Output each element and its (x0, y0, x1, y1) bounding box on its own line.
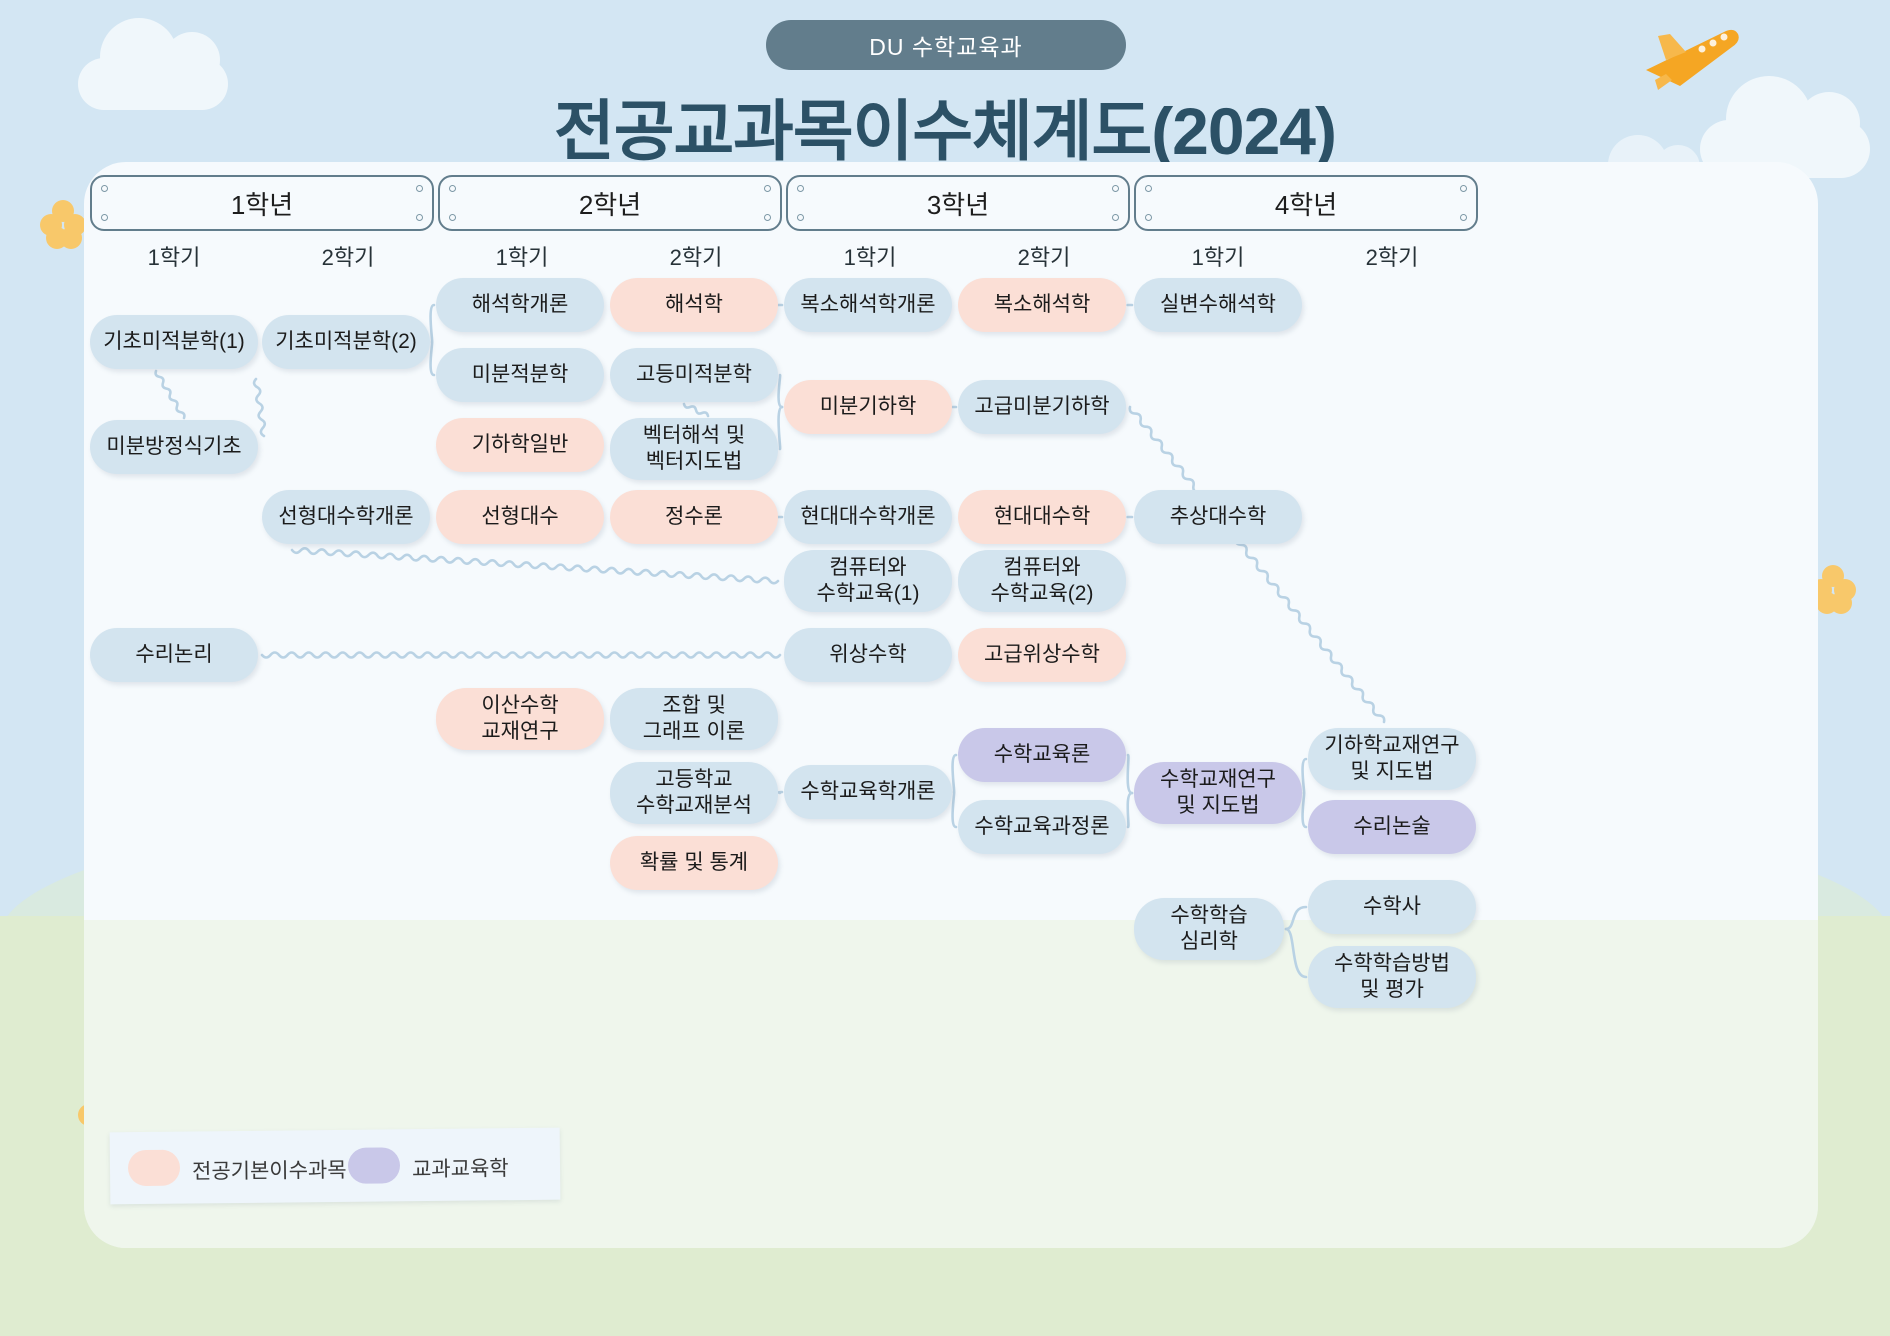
course-node[interactable]: 수학교육론 (958, 728, 1126, 782)
course-node[interactable]: 추상대수학 (1134, 490, 1302, 544)
course-node[interactable]: 고등학교 수학교재분석 (610, 762, 778, 824)
course-node-label: 복소해석학 (994, 292, 1091, 318)
course-node-label: 확률 및 통계 (640, 850, 748, 876)
course-node-label: 현대대수학개론 (800, 504, 935, 530)
semester-label-3: 1학기 (462, 240, 582, 272)
course-node[interactable]: 수학교육과정론 (958, 800, 1126, 854)
course-node[interactable]: 정수론 (610, 490, 778, 544)
course-node[interactable]: 현대대수학개론 (784, 490, 952, 544)
course-node[interactable]: 미분적분학 (436, 348, 604, 402)
course-node-label: 복소해석학개론 (800, 292, 935, 318)
course-node[interactable]: 해석학 (610, 278, 778, 332)
course-node-label: 기하학일반 (472, 432, 569, 458)
course-node-label: 해석학 (665, 292, 723, 318)
course-node-label: 조합 및 그래프 이론 (643, 693, 745, 744)
course-node-label: 고등학교 수학교재분석 (636, 767, 752, 818)
course-node[interactable]: 기하학교재연구 및 지도법 (1308, 728, 1476, 790)
course-node[interactable]: 수학교재연구 및 지도법 (1134, 762, 1302, 824)
course-node[interactable]: 고급위상수학 (958, 628, 1126, 682)
year-box-3: 3학년 (786, 175, 1130, 231)
legend: 전공기본이수과목 교과교육학 (110, 1128, 561, 1205)
year-box-label: 4학년 (1275, 185, 1337, 222)
page-title: 전공교과목이수체계도(2024) (0, 78, 1890, 174)
course-node[interactable]: 수학학습방법 및 평가 (1308, 946, 1476, 1008)
course-node-label: 실변수해석학 (1160, 292, 1276, 318)
semester-label-6: 2학기 (984, 240, 1104, 272)
course-node[interactable]: 조합 및 그래프 이론 (610, 688, 778, 750)
flower-icon (40, 200, 86, 246)
course-node-label: 정수론 (665, 504, 723, 530)
course-node[interactable]: 미분기하학 (784, 380, 952, 434)
semester-label-1: 1학기 (114, 240, 234, 272)
course-node-label: 현대대수학 (994, 504, 1091, 530)
course-node[interactable]: 기초미적분학(2) (262, 315, 430, 369)
course-node[interactable]: 수학사 (1308, 880, 1476, 934)
course-node-label: 컴퓨터와 수학교육(1) (817, 555, 920, 606)
course-node[interactable]: 컴퓨터와 수학교육(2) (958, 550, 1126, 612)
course-node[interactable]: 컴퓨터와 수학교육(1) (784, 550, 952, 612)
course-node-label: 미분방정식기초 (106, 434, 241, 460)
legend-swatch-basic (128, 1150, 180, 1187)
course-node[interactable]: 확률 및 통계 (610, 836, 778, 890)
course-node-label: 해석학개론 (472, 292, 569, 318)
course-node-label: 수학학습방법 및 평가 (1334, 951, 1450, 1002)
course-node[interactable]: 선형대수 (436, 490, 604, 544)
course-node-label: 수학교육과정론 (974, 814, 1109, 840)
course-node-label: 수학사 (1363, 894, 1421, 920)
course-node-label: 수학교육론 (994, 742, 1091, 768)
course-node-label: 미분적분학 (472, 362, 569, 388)
course-node-label: 미분기하학 (820, 394, 917, 420)
year-box-1: 1학년 (90, 175, 434, 231)
year-box-2: 2학년 (438, 175, 782, 231)
semester-label-8: 2학기 (1332, 240, 1452, 272)
year-box-label: 3학년 (927, 185, 989, 222)
course-node-label: 벡터해석 및 벡터지도법 (643, 423, 745, 474)
course-node-label: 컴퓨터와 수학교육(2) (991, 555, 1094, 606)
department-badge: DU 수학교육과 (766, 20, 1126, 70)
course-node-label: 고등미적분학 (636, 362, 752, 388)
course-node[interactable]: 수리논리 (90, 628, 258, 682)
semester-label-7: 1학기 (1158, 240, 1278, 272)
course-node-label: 고급위상수학 (984, 642, 1100, 668)
course-node-label: 기초미적분학(2) (275, 329, 417, 355)
course-node-label: 수리논리 (135, 642, 212, 668)
course-node[interactable]: 기초미적분학(1) (90, 315, 258, 369)
semester-label-2: 2학기 (288, 240, 408, 272)
course-node[interactable]: 이산수학 교재연구 (436, 688, 604, 750)
course-node[interactable]: 수리논술 (1308, 800, 1476, 854)
course-node-label: 추상대수학 (1170, 504, 1267, 530)
course-node[interactable]: 복소해석학개론 (784, 278, 952, 332)
course-node[interactable]: 벡터해석 및 벡터지도법 (610, 418, 778, 480)
course-node-label: 기초미적분학(1) (103, 329, 245, 355)
course-node[interactable]: 현대대수학 (958, 490, 1126, 544)
year-box-label: 2학년 (579, 185, 641, 222)
course-node[interactable]: 고급미분기하학 (958, 380, 1126, 434)
legend-swatch-pedagogy (348, 1147, 400, 1184)
course-node[interactable]: 수학교육학개론 (784, 765, 952, 819)
course-node[interactable]: 기하학일반 (436, 418, 604, 472)
course-node[interactable]: 고등미적분학 (610, 348, 778, 402)
year-box-4: 4학년 (1134, 175, 1478, 231)
year-box-label: 1학년 (231, 185, 293, 222)
semester-label-5: 1학기 (810, 240, 930, 272)
course-node[interactable]: 실변수해석학 (1134, 278, 1302, 332)
course-node-label: 수리논술 (1353, 814, 1430, 840)
course-node-label: 수학교육학개론 (800, 779, 935, 805)
course-node[interactable]: 수학학습 심리학 (1134, 898, 1284, 960)
department-badge-label: DU 수학교육과 (869, 28, 1022, 62)
course-node-label: 고급미분기하학 (974, 394, 1109, 420)
course-node-label: 이산수학 교재연구 (481, 693, 558, 744)
course-node-label: 수학교재연구 및 지도법 (1160, 767, 1276, 818)
course-node[interactable]: 선형대수학개론 (262, 490, 430, 544)
course-node-label: 위상수학 (829, 642, 906, 668)
semester-label-4: 2학기 (636, 240, 756, 272)
course-node-label: 기하학교재연구 및 지도법 (1324, 733, 1459, 784)
legend-label-pedagogy: 교과교육학 (412, 1152, 509, 1183)
course-node-label: 선형대수 (481, 504, 558, 530)
course-node[interactable]: 해석학개론 (436, 278, 604, 332)
course-node-label: 수학학습 심리학 (1170, 903, 1247, 954)
legend-label-basic: 전공기본이수과목 (192, 1154, 347, 1186)
course-node[interactable]: 위상수학 (784, 628, 952, 682)
course-node-label: 선형대수학개론 (278, 504, 413, 530)
course-node[interactable]: 미분방정식기초 (90, 420, 258, 474)
course-node[interactable]: 복소해석학 (958, 278, 1126, 332)
